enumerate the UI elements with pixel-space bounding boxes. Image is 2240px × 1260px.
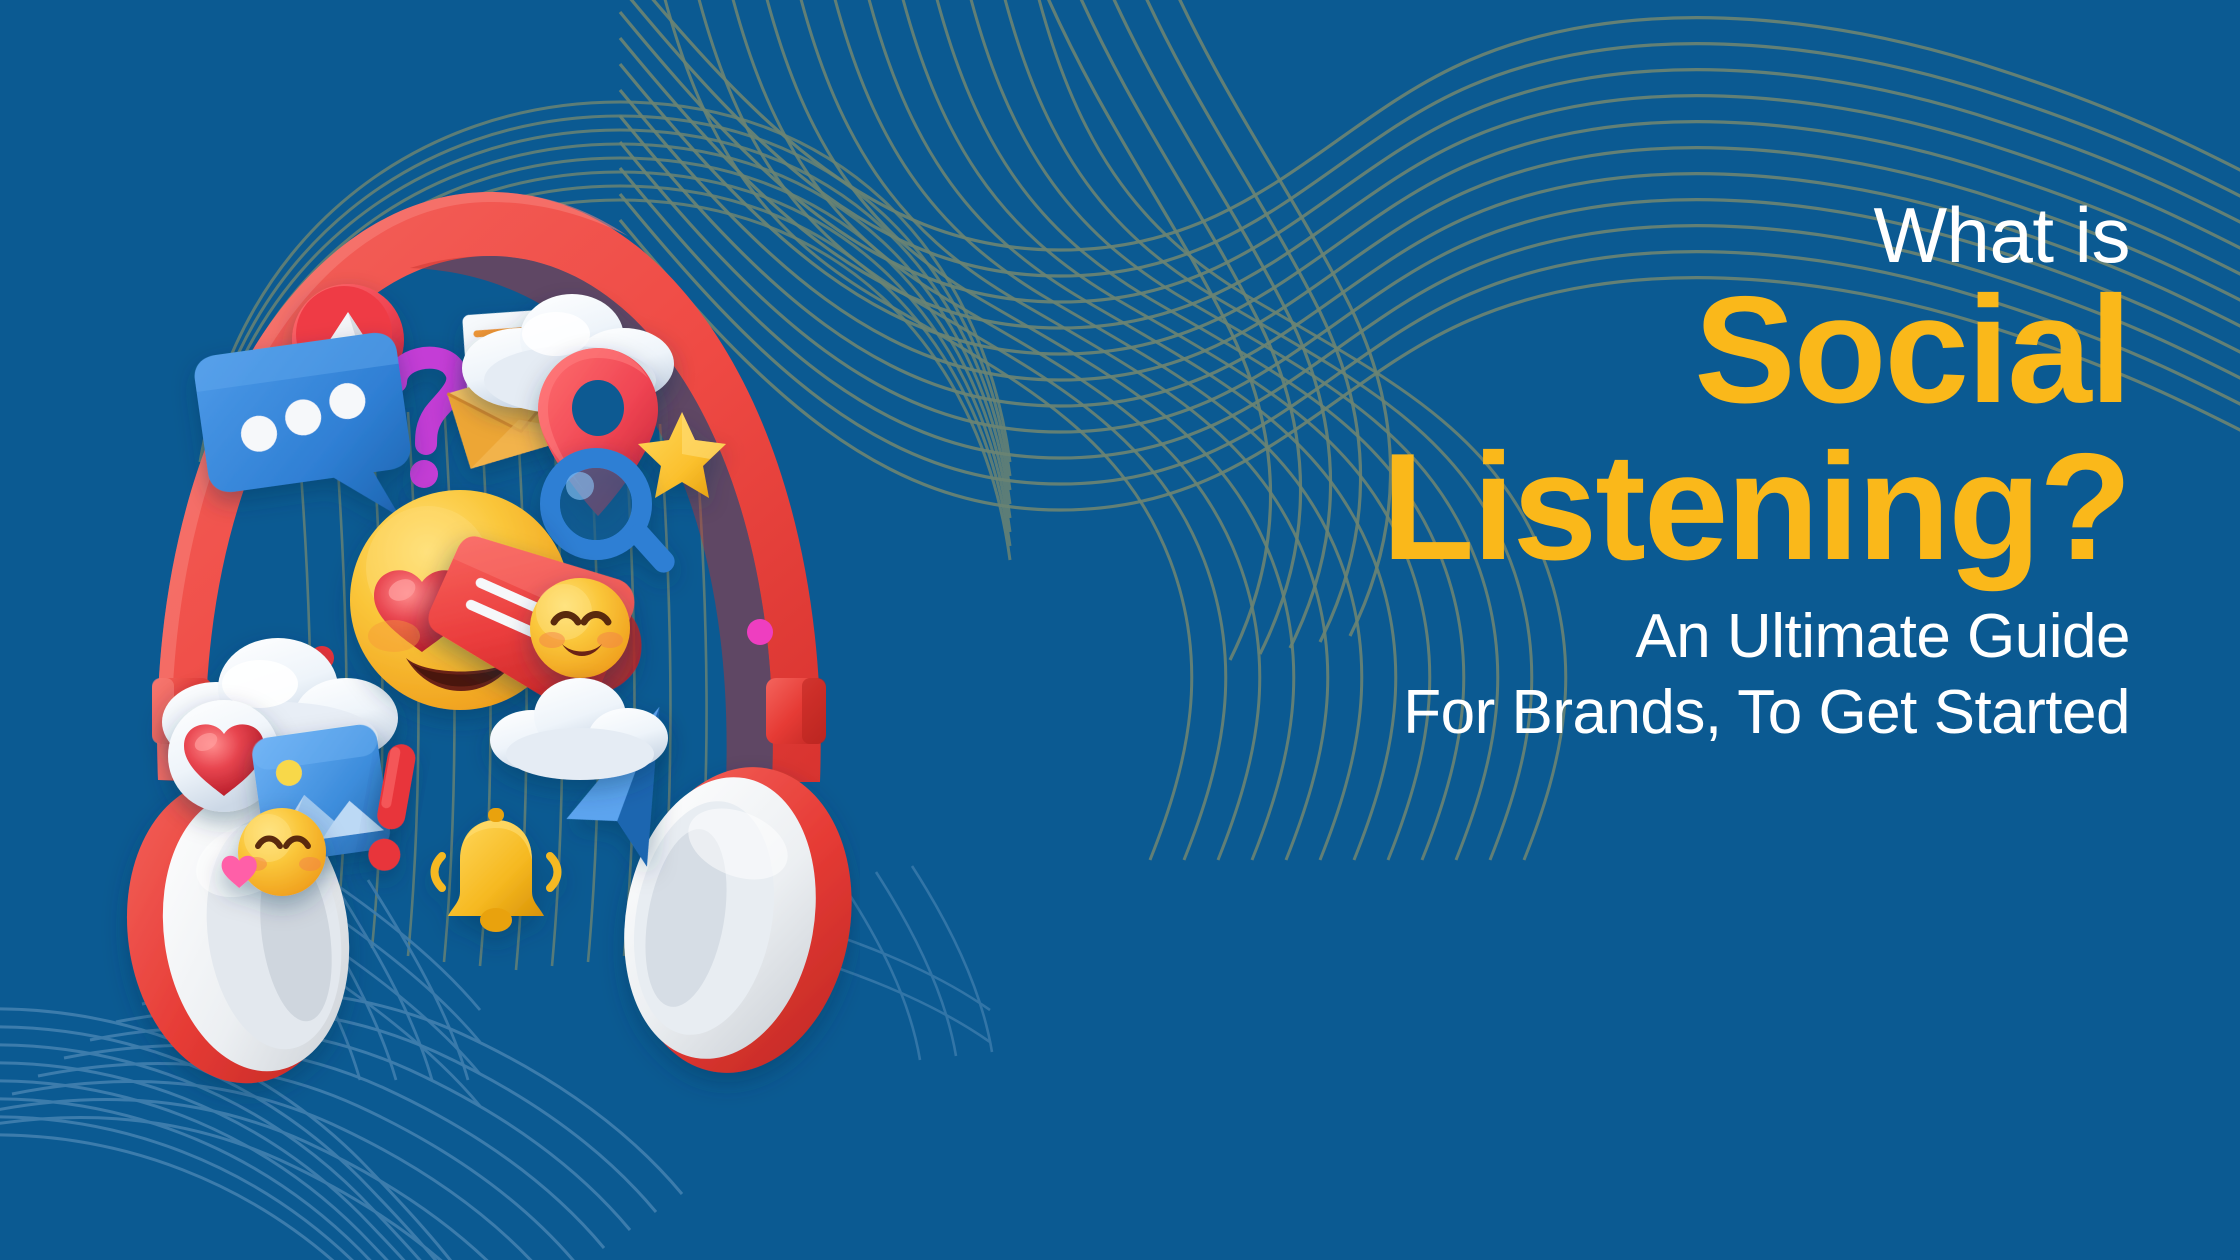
headphone-right-slider [766, 678, 826, 744]
hero-subtitle: An Ultimate Guide For Brands, To Get Sta… [1190, 599, 2130, 750]
title-line-1: Social [1190, 272, 2130, 429]
headphones-illustration [60, 60, 860, 1200]
hero-eyebrow: What is [1190, 195, 2130, 276]
dot-pink-icon [747, 619, 773, 645]
blushing-emoji-icon [530, 578, 630, 678]
poster-canvas: What is Social Listening? An Ultimate Gu… [0, 0, 2240, 1260]
page-title: Social Listening? [1190, 272, 2130, 585]
title-line-2: Listening? [1190, 429, 2130, 586]
hero-text-block: What is Social Listening? An Ultimate Gu… [1190, 195, 2130, 750]
subtitle-line-1: An Ultimate Guide [1190, 599, 2130, 675]
bell-icon [435, 808, 558, 932]
subtitle-line-2: For Brands, To Get Started [1190, 675, 2130, 751]
